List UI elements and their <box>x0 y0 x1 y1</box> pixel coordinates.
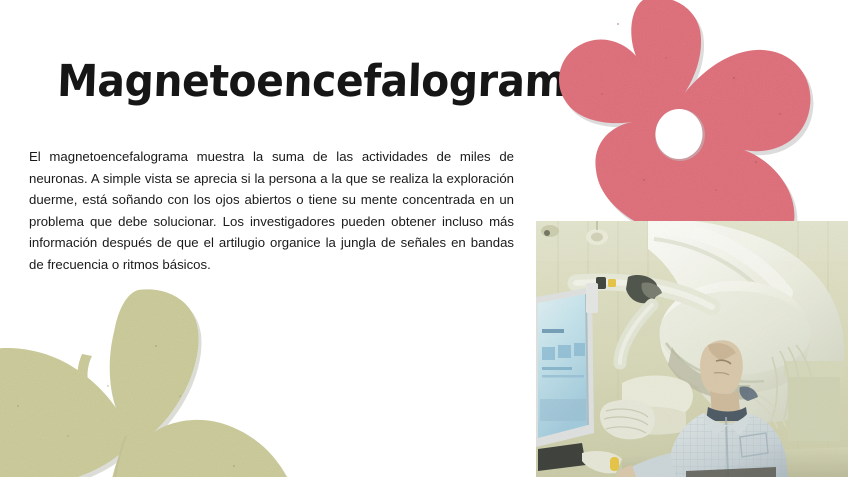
pink-flower-decoration <box>548 0 830 222</box>
body-paragraph: El magnetoencefalograma muestra la suma … <box>29 146 514 275</box>
beige-butterfly-decoration <box>0 286 308 477</box>
meg-scanner-photo <box>536 221 848 477</box>
slide-canvas: Magnetoencefalograma El magnetoencefalog… <box>0 0 848 477</box>
flower-center-hole <box>656 109 703 159</box>
page-title: Magnetoencefalograma <box>56 58 594 106</box>
